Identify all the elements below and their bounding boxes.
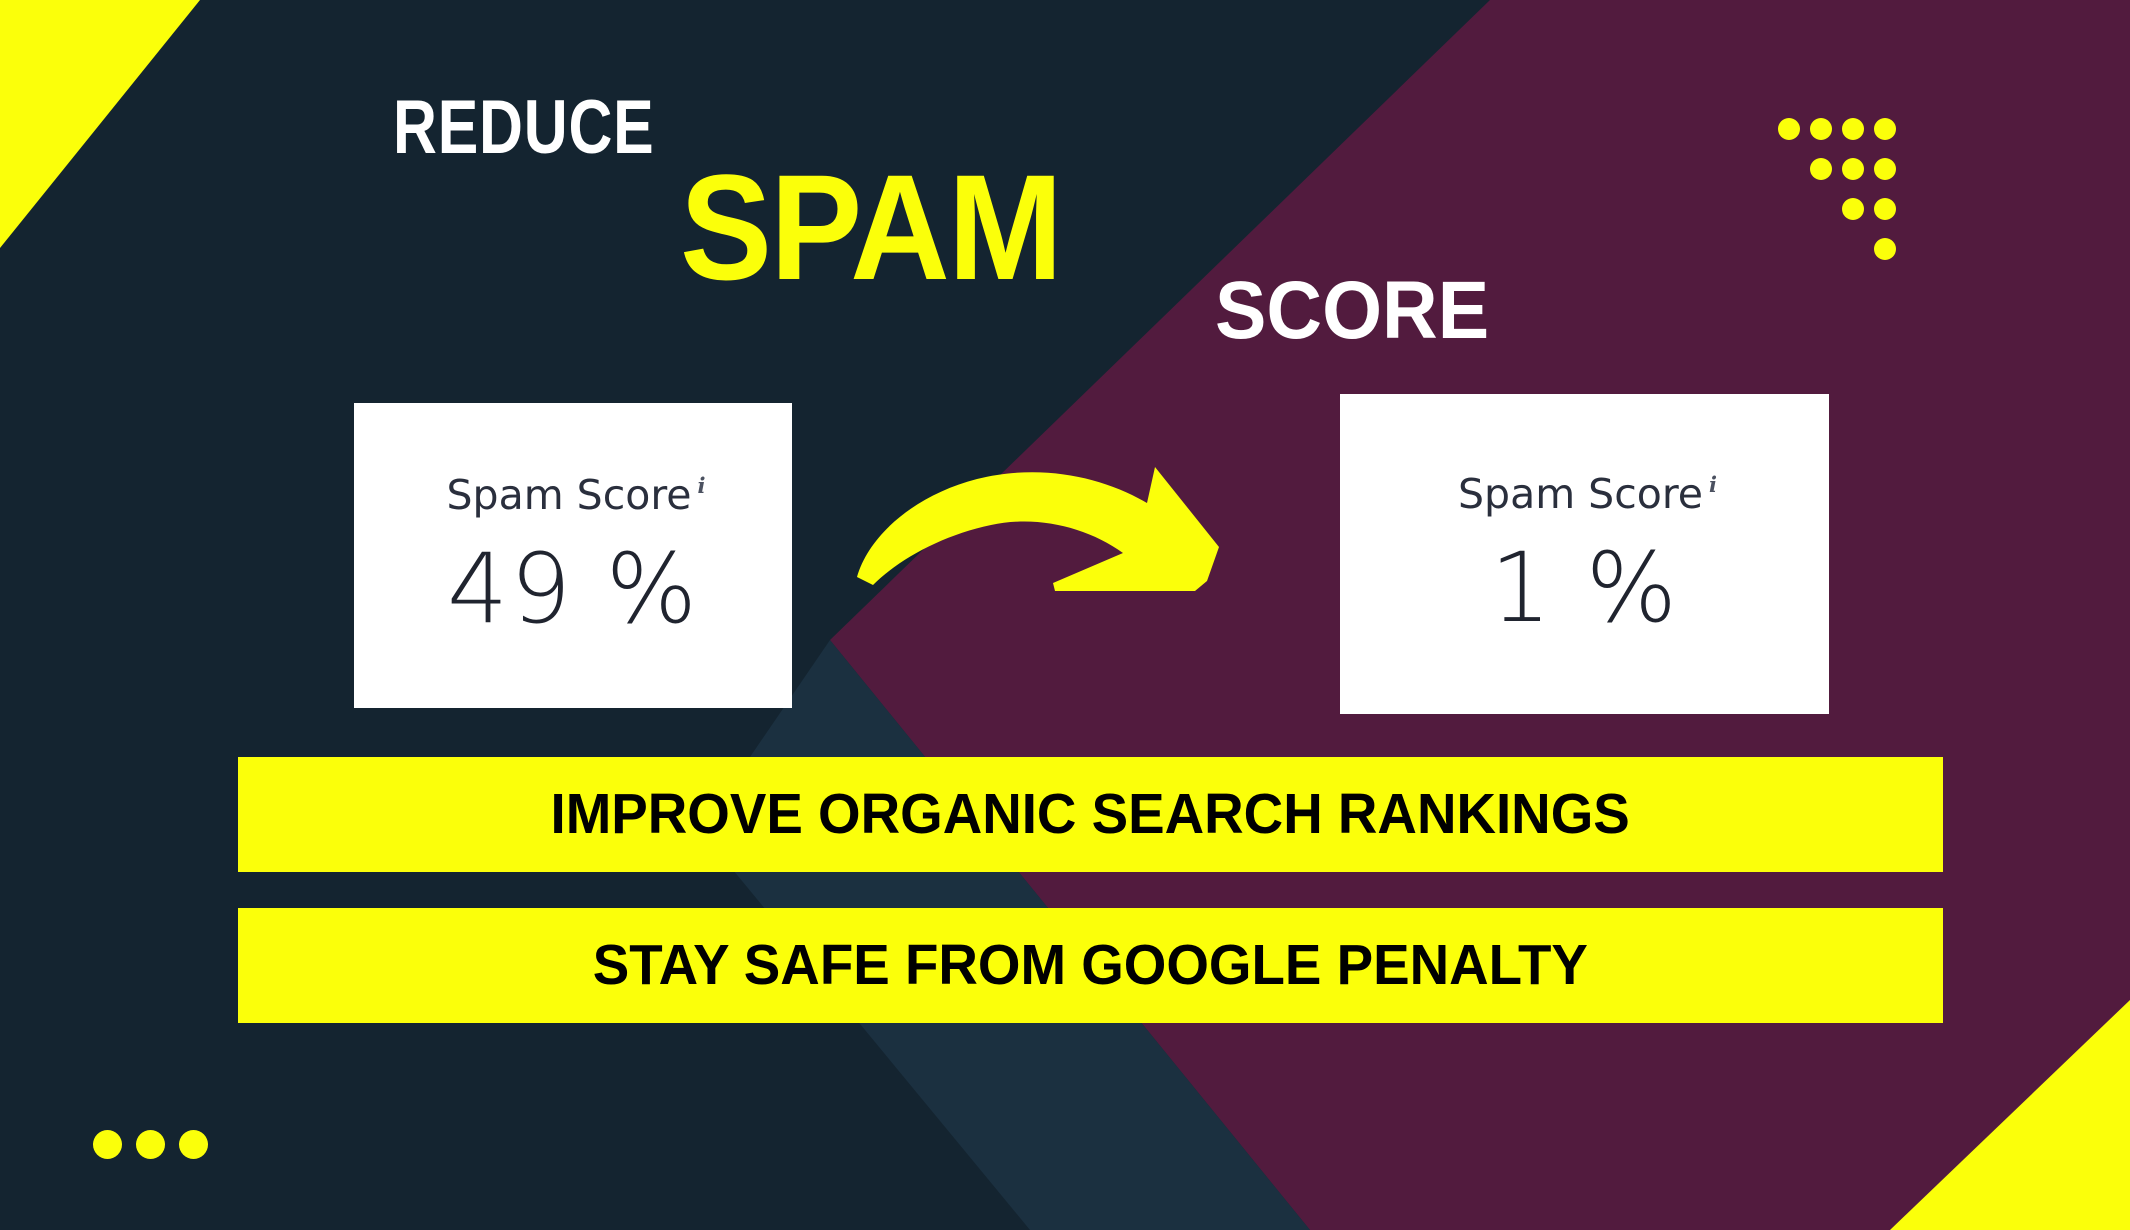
dot-icon [1874,238,1896,260]
headline-word-spam: SPAM [680,152,1061,302]
dot-icon [1874,118,1896,140]
spam-score-card-before: Spam Scorei 49 % [354,403,792,708]
dot-icon [1810,158,1832,180]
poster-canvas: REDUCE SPAM SCORE Spam Scorei 49 % Spam … [0,0,2130,1230]
info-icon[interactable]: i [1709,472,1717,497]
dot-icon [1842,118,1864,140]
dot-icon [1874,198,1896,220]
spam-score-label: Spam Score [1458,470,1703,518]
spam-score-card-after: Spam Scorei 1 % [1340,394,1829,714]
dot-icon [93,1130,122,1159]
progress-arrow [855,455,1255,625]
info-icon[interactable]: i [698,473,706,498]
spam-score-card-before-title: Spam Scorei [447,472,700,525]
dot-icon [1842,158,1864,180]
spam-score-card-after-title: Spam Scorei [1458,471,1711,524]
dot-icon [1874,158,1896,180]
dot-icon [136,1130,165,1159]
spam-score-card-before-value: 49 % [447,539,699,639]
headline-word-reduce: REDUCE [393,90,655,166]
benefit-banner-2-label: STAY SAFE FROM GOOGLE PENALTY [593,937,1588,994]
headline-group: REDUCE SPAM SCORE [0,0,2130,420]
benefit-banner-2: STAY SAFE FROM GOOGLE PENALTY [238,908,1943,1023]
spam-score-card-after-value: 1 % [1490,538,1679,638]
spam-score-label: Spam Score [447,471,692,519]
benefit-banner-1: IMPROVE ORGANIC SEARCH RANKINGS [238,757,1943,872]
dot-icon [1778,118,1800,140]
curved-right-arrow-icon [855,455,1255,625]
dot-icon [1810,118,1832,140]
headline-word-score: SCORE [1215,270,1489,352]
dot-icon [1842,198,1864,220]
benefit-banner-1-label: IMPROVE ORGANIC SEARCH RANKINGS [551,786,1630,843]
dot-icon [179,1130,208,1159]
